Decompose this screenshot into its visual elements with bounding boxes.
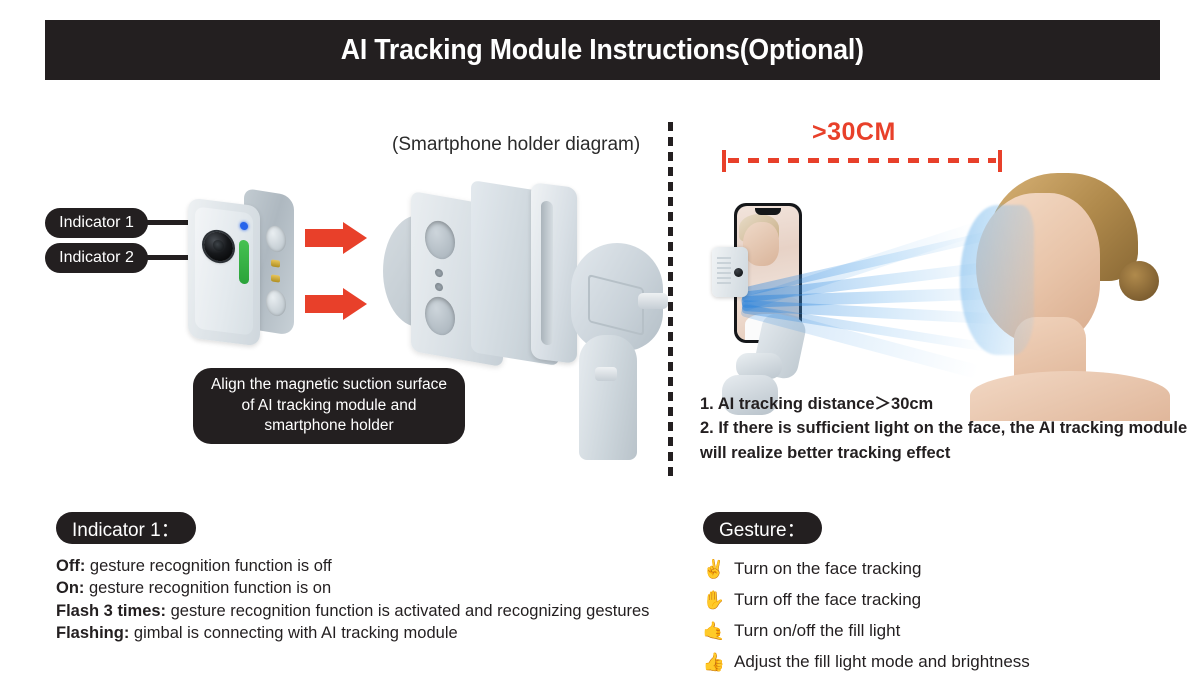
- distance-measure-line: [722, 150, 1002, 172]
- indicator-description-item: Flash 3 times: gesture recognition funct…: [56, 600, 656, 622]
- gimbal-knob: [638, 293, 668, 309]
- tracking-note: 2. If there is sufficient light on the f…: [700, 416, 1190, 465]
- face-scan-overlay: [960, 205, 1034, 355]
- indicator-description-item: On: gesture recognition function is on: [56, 577, 656, 599]
- gesture-list-item: 🤙Turn on/off the fill light: [703, 615, 1183, 646]
- gesture-label: Turn off the face tracking: [734, 591, 921, 608]
- mounted-ai-module: [712, 247, 748, 297]
- gimbal-handle-button: [595, 367, 617, 381]
- red-arrow-top-icon: [305, 222, 369, 254]
- gesture-label: Turn on/off the fill light: [734, 622, 900, 639]
- module-pogo-pin-bottom: [271, 274, 280, 282]
- measure-cap-left: [722, 150, 726, 172]
- indicator-description-item: Flashing: gimbal is connecting with AI t…: [56, 622, 656, 644]
- holder-diagram-caption: (Smartphone holder diagram): [392, 134, 640, 156]
- tracking-notes-list: 1. AI tracking distance＞30cm2. If there …: [700, 392, 1190, 465]
- face-hair-bun: [1119, 261, 1159, 301]
- instruction-page: AI Tracking Module Instructions(Optional…: [0, 0, 1203, 688]
- indicator-1-led-blue: [240, 222, 248, 231]
- gimbal-phone-rig-illustration: [700, 185, 840, 415]
- indicator-state-label: On:: [56, 579, 84, 597]
- align-instruction-caption: Align the magnetic suction surface of AI…: [193, 368, 465, 444]
- victory-hand-icon: ✌: [703, 557, 725, 581]
- indicator-state-text: gesture recognition function is off: [85, 557, 331, 575]
- gesture-list-item: 👍Adjust the fill light mode and brightne…: [703, 646, 1183, 677]
- holder-clamp-slot: [541, 200, 553, 345]
- ai-tracking-module-illustration: [182, 188, 302, 348]
- vertical-divider: [668, 122, 673, 478]
- indicator-state-text: gesture recognition function is on: [84, 579, 331, 597]
- indicator-2-led-green: [239, 239, 249, 284]
- screen-subject-head: [743, 222, 779, 266]
- page-title: AI Tracking Module Instructions(Optional…: [341, 34, 864, 67]
- distance-label: >30CM: [812, 118, 896, 147]
- indicator-description-item: Off: gesture recognition function is off: [56, 555, 656, 577]
- gesture-label: Adjust the fill light mode and brightnes…: [734, 653, 1030, 670]
- indicator-state-label: Off:: [56, 557, 85, 575]
- indicator-state-label: Flash 3 times:: [56, 602, 166, 620]
- tracking-note: 1. AI tracking distance＞30cm: [700, 392, 1190, 416]
- raised-hand-icon: ✋: [703, 588, 725, 612]
- gesture-section-heading: Gesture：: [703, 512, 822, 544]
- module-pogo-pin-top: [271, 259, 280, 267]
- title-bar: AI Tracking Module Instructions(Optional…: [45, 20, 1160, 80]
- phone-notch: [755, 208, 781, 215]
- indicator-description-list: Off: gesture recognition function is off…: [56, 555, 656, 645]
- face-profile-photo: [962, 165, 1177, 415]
- red-arrow-bottom-icon: [305, 288, 369, 320]
- measure-dashes: [728, 158, 996, 163]
- gesture-list-item: ✋Turn off the face tracking: [703, 584, 1183, 615]
- gimbal-handle: [579, 335, 637, 460]
- holder-clamp: [531, 182, 577, 364]
- indicator-1-callout-pill: Indicator 1: [45, 208, 148, 238]
- mounted-module-camera-icon: [734, 268, 743, 277]
- indicator-section-heading: Indicator 1：: [56, 512, 196, 544]
- indicator-2-callout-pill: Indicator 2: [45, 243, 148, 273]
- indicator-state-text: gesture recognition function is activate…: [166, 602, 649, 620]
- indicator-state-text: gimbal is connecting with AI tracking mo…: [129, 624, 457, 642]
- call-me-hand-icon: 🤙: [703, 619, 725, 643]
- thumbs-up-icon: 👍: [703, 650, 725, 674]
- gesture-list-item: ✌Turn on the face tracking: [703, 553, 1183, 584]
- indicator-state-label: Flashing:: [56, 624, 129, 642]
- gesture-label: Turn on the face tracking: [734, 560, 921, 577]
- gesture-list: ✌Turn on the face tracking✋Turn off the …: [703, 553, 1183, 677]
